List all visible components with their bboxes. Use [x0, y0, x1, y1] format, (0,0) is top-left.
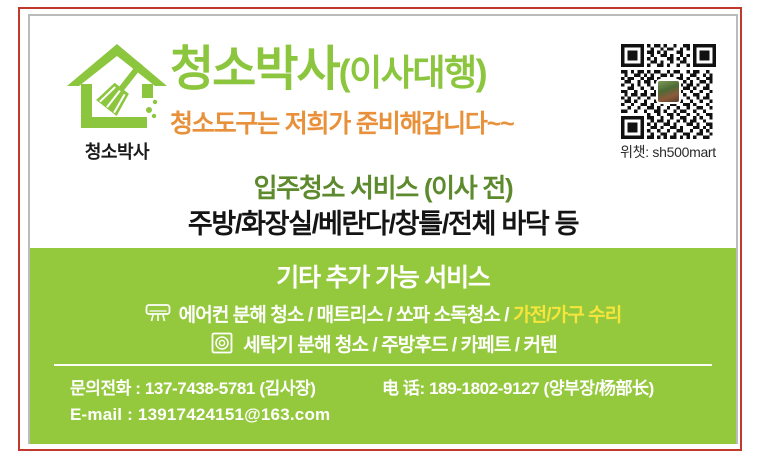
- header-subtitle: 청소도구는 저희가 준비해갑니다~~: [170, 104, 620, 140]
- contact-area: 문의전화 : 137-7438-5781 (김사장) E-mail : 1391…: [30, 376, 736, 436]
- logo-caption: 청소박사: [52, 138, 182, 164]
- contact-divider: [54, 364, 712, 366]
- contact-email[interactable]: E-mail : 13917424151@163.com: [70, 402, 330, 428]
- top-white-section: 청소박사 청소박사(이사대행) 청소도구는 저희가 준비해갑니다~~: [30, 16, 736, 248]
- page-title: 청소박사(이사대행): [170, 46, 620, 94]
- extra-services-list: 에어컨 분해 청소 / 매트리스 / 쏘파 소독청소 / 가전/가구 수리 세탁…: [30, 298, 736, 358]
- list-item: 세탁기 분해 청소 / 주방후드 / 카페트 / 커텐: [30, 328, 736, 358]
- title-main: 청소박사: [170, 43, 339, 96]
- contact-right-column: 电 话: 189-1802-9127 (양부장/杨部长): [382, 376, 654, 402]
- air-conditioner-icon: [145, 302, 171, 324]
- list-item-text: 세탁기 분해 청소 / 주방후드 / 카페트 / 커텐: [243, 330, 556, 357]
- extra-services-heading: 기타 추가 가능 서비스: [30, 258, 736, 294]
- list-item: 에어컨 분해 청소 / 매트리스 / 쏘파 소독청소 / 가전/가구 수리: [30, 298, 736, 328]
- extra-row-0-highlight: 가전/가구 수리: [513, 305, 621, 326]
- list-item-text: 에어컨 분해 청소 / 매트리스 / 쏘파 소독청소 / 가전/가구 수리: [179, 300, 622, 327]
- contact-phone-kr[interactable]: 문의전화 : 137-7438-5781 (김사장): [70, 376, 330, 402]
- title-suffix: (이사대행): [339, 52, 486, 93]
- service-detail: 주방/화장실/베란다/창틀/전체 바닥 등: [30, 202, 736, 241]
- extra-services-section: 기타 추가 가능 서비스 에어컨 분해 청소 / 매트리스 / 쏘파 소독청소 …: [30, 248, 736, 444]
- washing-machine-icon: [209, 332, 235, 354]
- logo-block: 청소박사: [52, 40, 182, 164]
- flyer-canvas: 청소박사 청소박사(이사대행) 청소도구는 저희가 준비해갑니다~~: [0, 0, 758, 465]
- wechat-label: 위챗: sh500mart: [608, 142, 728, 162]
- extra-row-1-text: 세탁기 분해 청소 / 주방후드 / 카페트 / 커텐: [243, 335, 556, 356]
- contact-phone-cn[interactable]: 电 话: 189-1802-9127 (양부장/杨部长): [382, 376, 654, 402]
- extra-row-0-text: 에어컨 분해 청소 / 매트리스 / 쏘파 소독청소 /: [179, 305, 513, 326]
- house-with-broom-icon: [63, 40, 171, 136]
- qr-code[interactable]: [621, 44, 716, 139]
- qr-block: 위챗: sh500mart: [608, 44, 728, 162]
- contact-left-column: 문의전화 : 137-7438-5781 (김사장) E-mail : 1391…: [70, 376, 330, 428]
- service-title: 입주청소 서비스 (이사 전): [30, 168, 736, 205]
- title-block: 청소박사(이사대행) 청소도구는 저희가 준비해갑니다~~: [170, 46, 620, 140]
- qr-center-avatar: [656, 79, 681, 104]
